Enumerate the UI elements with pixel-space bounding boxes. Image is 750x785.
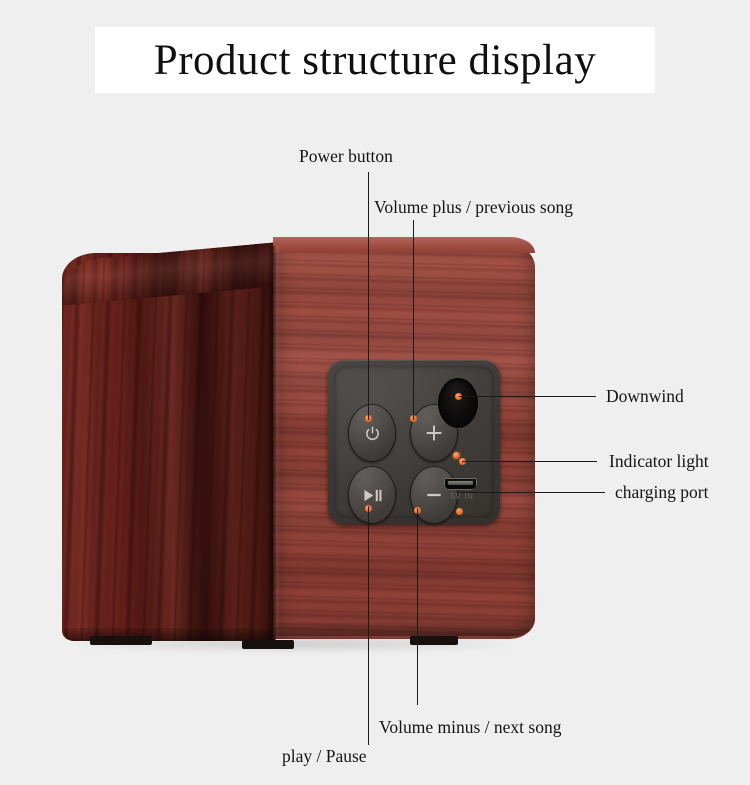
title-banner: Product structure display xyxy=(95,27,655,93)
speaker-foot xyxy=(242,640,294,649)
speaker-front-bottom-edge xyxy=(275,622,533,636)
callout-label-indicator-light: Indicator light xyxy=(609,451,709,472)
power-icon xyxy=(364,425,381,442)
leader-line-power-button xyxy=(368,172,369,420)
leader-line-charging-port xyxy=(459,492,605,493)
play-pause-button[interactable] xyxy=(348,466,396,524)
control-panel-surface: 5V IN xyxy=(334,366,494,518)
leader-line-indicator-light xyxy=(462,461,597,462)
speaker-foot xyxy=(90,636,152,645)
callout-dot-charging xyxy=(456,508,463,515)
leader-line-play-pause xyxy=(368,506,369,745)
leader-line-downwind xyxy=(459,396,596,397)
charging-port-label: 5V IN xyxy=(440,492,484,501)
leader-line-volume-minus xyxy=(417,508,418,705)
callout-label-charging-port: charging port xyxy=(615,482,708,503)
page-title: Product structure display xyxy=(154,39,596,82)
plus-icon xyxy=(424,423,444,443)
callout-label-power-button: Power button xyxy=(299,146,393,167)
speaker-front-top-edge xyxy=(273,237,535,253)
led-indicator-icon xyxy=(453,452,460,459)
product-display-canvas: Product structure display xyxy=(0,0,750,785)
control-panel: 5V IN xyxy=(328,360,500,524)
product-image-speaker: 5V IN xyxy=(62,236,540,648)
callout-label-volume-plus: Volume plus / previous song xyxy=(374,197,573,218)
speaker-side-face xyxy=(62,253,275,641)
callout-label-downwind: Downwind xyxy=(606,386,684,407)
downwind-port xyxy=(438,378,478,428)
usb-contact xyxy=(448,481,473,485)
callout-label-play-pause: play / Pause xyxy=(282,746,367,767)
power-button[interactable] xyxy=(348,404,396,462)
play-pause-icon xyxy=(362,487,383,504)
speaker-corner-edge xyxy=(267,246,281,638)
micro-usb-icon[interactable] xyxy=(444,478,477,490)
callout-label-volume-minus: Volume minus / next song xyxy=(379,717,561,738)
leader-line-volume-plus xyxy=(413,220,414,420)
